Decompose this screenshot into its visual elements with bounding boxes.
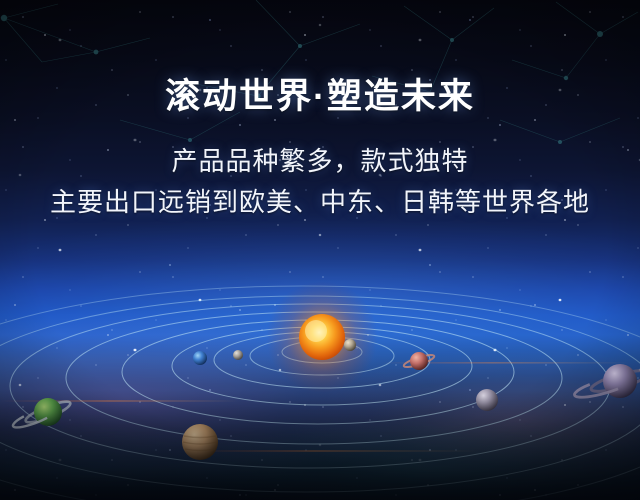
- planet-grey-small: [233, 350, 243, 360]
- planet-grey-lavender: [476, 389, 498, 411]
- planet-red-ringed: [403, 352, 436, 370]
- sun: [266, 281, 378, 393]
- hero-banner: 滚动世界·塑造未来 产品品种繁多，款式独特 主要出口远销到欧美、中东、日韩等世界…: [0, 0, 640, 500]
- subtitle-line-2: 主要出口远销到欧美、中东、日韩等世界各地: [0, 180, 640, 222]
- planet-tan-banded: [182, 424, 218, 460]
- planet-green-ringed: [11, 398, 72, 431]
- planet-mercury-small: [344, 339, 356, 351]
- page-title: 滚动世界·塑造未来: [0, 0, 640, 117]
- planet-earth-blue: [193, 351, 207, 365]
- subtitle-line-1: 产品品种繁多，款式独特: [0, 117, 640, 181]
- planet-purple-ringed: [573, 364, 640, 401]
- hero-copy-block: 滚动世界·塑造未来 产品品种繁多，款式独特 主要出口远销到欧美、中东、日韩等世界…: [0, 0, 640, 222]
